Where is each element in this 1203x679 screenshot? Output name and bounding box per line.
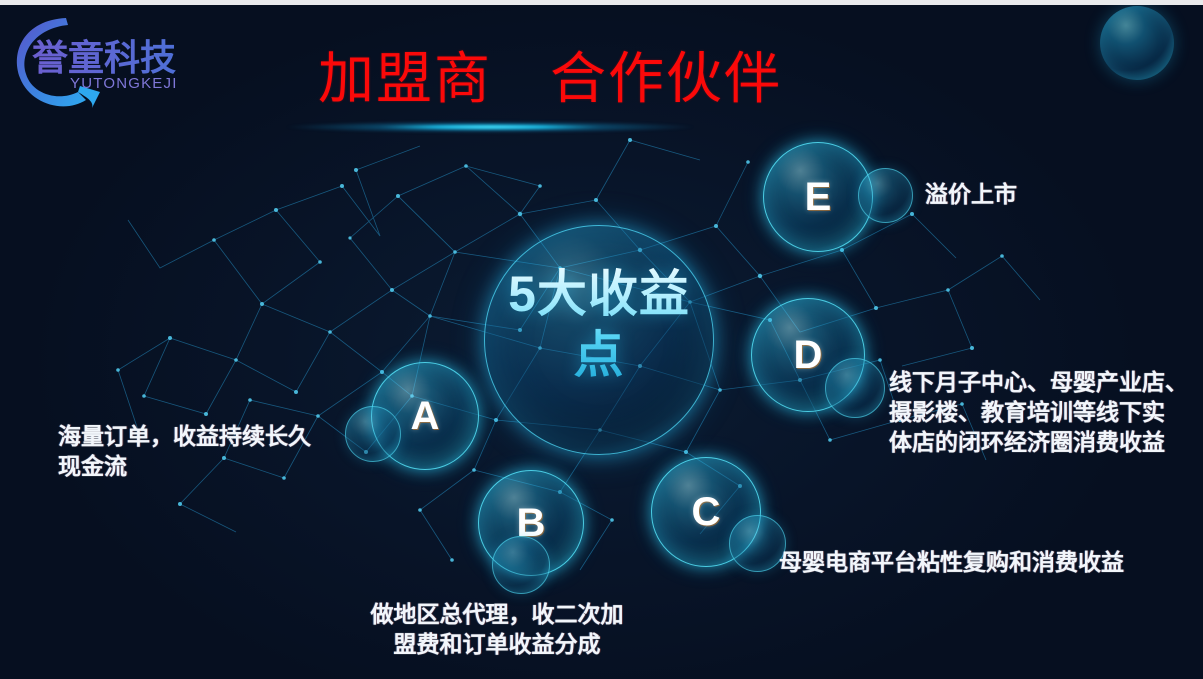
company-logo: 誉童科技 YUTONGKEJI: [8, 8, 198, 120]
window-top-edge: [0, 0, 1203, 5]
bubble-b-caption: 做地区总代理，收二次加 盟费和订单收益分成: [352, 600, 642, 660]
bubble-c-caption: 母婴电商平台粘性复购和消费收益: [779, 548, 1179, 578]
decorative-bubble: [1100, 6, 1174, 80]
bubble-a-caption: 海量订单，收益持续长久 现金流: [58, 422, 358, 482]
bubble-d-caption: 线下月子中心、母婴产业店、 摄影楼、教育培训等线下实 体店的闭环经济圈消费收益: [889, 368, 1203, 458]
bubble-b-satellite: [492, 536, 550, 594]
slide-canvas: 誉童科技 YUTONGKEJI 加盟商 合作伙伴 5大收益 点 A 海量订单，收…: [0, 0, 1203, 679]
bubble-e-satellite: [858, 168, 913, 223]
title-glow-divider: [285, 119, 695, 135]
logo-name-cn: 誉童科技: [32, 37, 176, 78]
page-title: 加盟商 合作伙伴: [300, 34, 800, 115]
center-label-line1: 5大收益: [484, 264, 714, 325]
bubble-e[interactable]: E: [763, 142, 873, 252]
bubble-d-satellite: [825, 358, 885, 418]
bubble-c-satellite: [729, 515, 786, 572]
bubble-e-caption: 溢价上市: [925, 180, 1155, 210]
center-sphere-label: 5大收益 点: [484, 264, 714, 386]
bubble-e-letter: E: [763, 142, 873, 252]
center-label-line2: 点: [484, 325, 714, 386]
logo-name-pinyin: YUTONGKEJI: [70, 75, 178, 92]
